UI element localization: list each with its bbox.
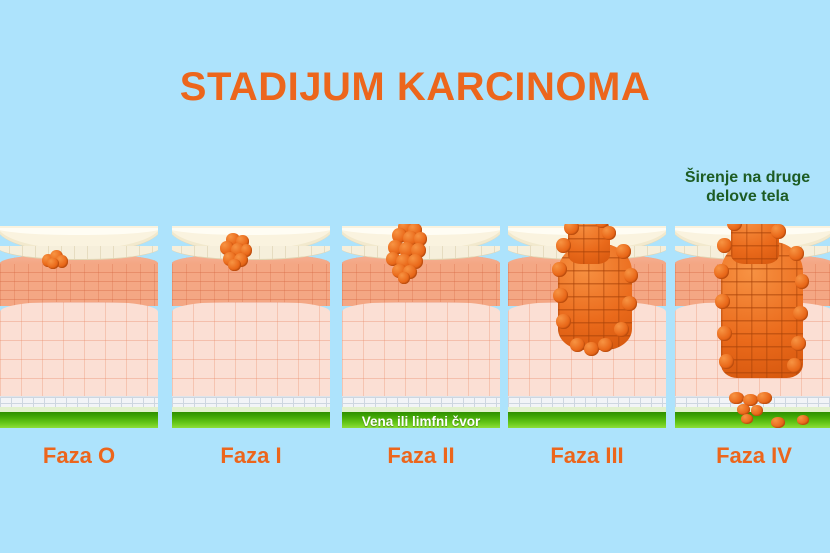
skin-cross-section	[675, 224, 830, 428]
skin-cross-section	[172, 224, 330, 428]
dermis-layer	[0, 254, 158, 306]
stage-panels: Vena ili limfni čvor	[0, 224, 830, 428]
stage-labels: Faza O Faza I Faza II Faza III Faza IV	[0, 443, 830, 473]
stage-label-2: Faza II	[342, 443, 500, 469]
stage-panel-4[interactable]	[675, 224, 830, 428]
stage-panel-2[interactable]: Vena ili limfni čvor	[342, 224, 500, 428]
vessel-band	[172, 412, 330, 428]
page-title: STADIJUM KARCINOMA	[0, 65, 830, 110]
tumor-mass-stage-1	[218, 233, 252, 271]
skin-cross-section: Vena ili limfni čvor	[342, 224, 500, 428]
stage-panel-0[interactable]	[0, 224, 158, 428]
metastatic-cells	[719, 392, 815, 428]
stage-panel-1[interactable]	[172, 224, 330, 428]
tumor-mass-stage-4	[713, 224, 807, 398]
skin-cross-section	[0, 224, 158, 428]
vessel-band	[508, 412, 666, 428]
subcutis-layer	[342, 302, 500, 400]
stage-label-0: Faza O	[0, 443, 158, 469]
stage-panel-3[interactable]	[508, 224, 666, 428]
tumor-mass-stage-0	[42, 250, 68, 268]
vessel-band	[0, 412, 158, 428]
subcutis-layer	[172, 302, 330, 400]
tumor-mass-stage-2	[384, 224, 430, 286]
stage-label-4: Faza IV	[675, 443, 830, 469]
spread-note-label: Širenje na druge delove tela	[670, 168, 825, 206]
stage-label-3: Faza III	[508, 443, 666, 469]
subcutis-layer	[0, 302, 158, 400]
infographic-canvas: STADIJUM KARCINOMA Širenje na druge delo…	[0, 0, 830, 553]
stage-label-1: Faza I	[172, 443, 330, 469]
vessel-label: Vena ili limfni čvor	[342, 412, 500, 428]
tumor-mass-stage-3	[550, 224, 634, 358]
skin-cross-section	[508, 224, 666, 428]
